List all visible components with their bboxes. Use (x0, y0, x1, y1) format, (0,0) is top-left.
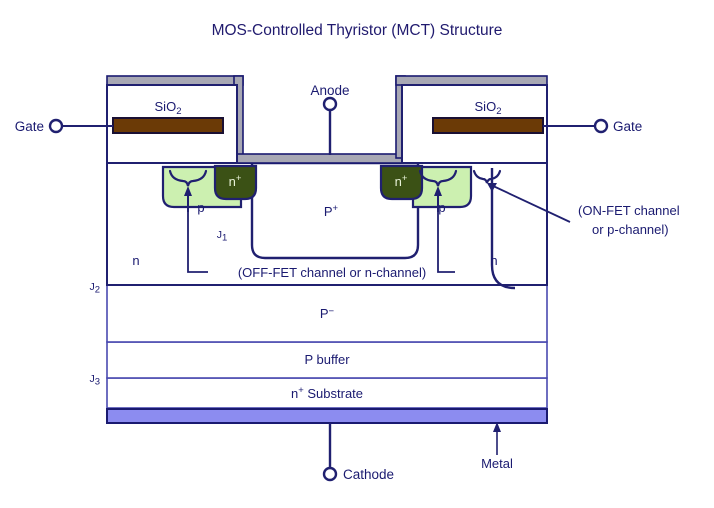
gate-terminal-right[interactable] (595, 120, 607, 132)
cathode-label: Cathode (343, 467, 394, 482)
on-fet-channel-label-line1: (ON-FET channel (578, 203, 680, 218)
p-buffer-label: P buffer (304, 352, 350, 367)
gate-electrode-right (433, 118, 543, 133)
off-fet-channel-label: (OFF-FET channel or n-channel) (238, 265, 426, 280)
bottom-metal-electrode (107, 409, 547, 423)
on-fet-channel-label-line2: or p-channel) (592, 222, 669, 237)
gate-terminal-left[interactable] (50, 120, 62, 132)
n-region-left-label: n (132, 253, 139, 268)
page-title: MOS-Controlled Thyristor (MCT) Structure (212, 22, 503, 39)
cathode-terminal[interactable] (324, 468, 336, 480)
gate-label-left: Gate (15, 119, 44, 134)
top-metal-left-cap (107, 76, 243, 85)
gate-electrode-left (113, 118, 223, 133)
metal-label: Metal (481, 456, 513, 471)
anode-terminal[interactable] (324, 98, 336, 110)
top-metal-right-cap (396, 76, 547, 85)
junction-j2-label: J2 (89, 281, 100, 296)
junction-j3-label: J3 (89, 373, 100, 388)
gate-label-right: Gate (613, 119, 642, 134)
top-metal-anode-plate (234, 154, 404, 163)
mct-structure-diagram: MOS-Controlled Thyristor (MCT) Structure… (0, 0, 714, 508)
anode-label: Anode (310, 83, 349, 98)
p-well-right-label: p (438, 200, 445, 215)
p-well-left-label: p (197, 200, 204, 215)
n-region-right-label: n (490, 253, 497, 268)
